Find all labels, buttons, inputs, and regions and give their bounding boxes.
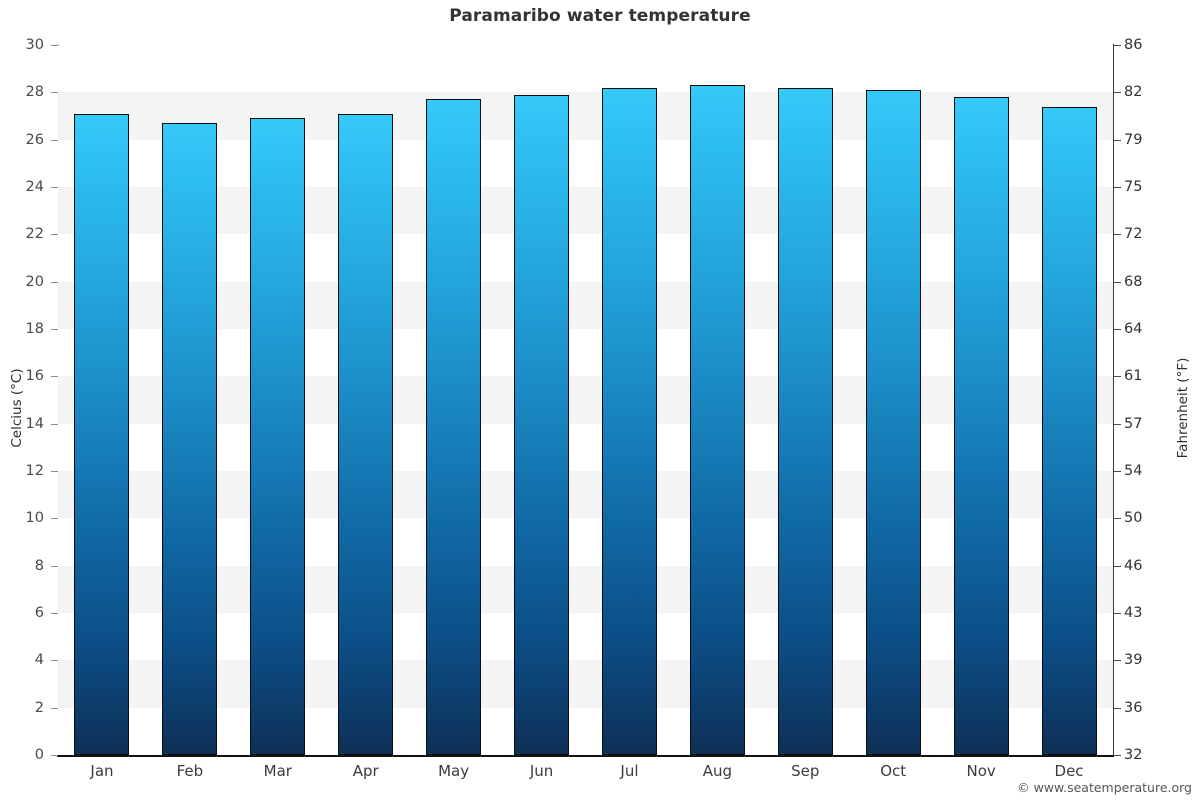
x-tick-jan: Jan: [57, 762, 147, 780]
y-axis-right-label-host: Fahrenheit (°F): [1168, 0, 1198, 800]
bar-aug[interactable]: [690, 85, 745, 755]
bar-sep[interactable]: [778, 88, 833, 755]
x-tick-oct: Oct: [848, 762, 938, 780]
y-tick-left: 22: [0, 226, 44, 242]
y-tick-right: 72: [1124, 226, 1168, 242]
tick-mark-right: [1114, 613, 1121, 614]
y-tick-right: 36: [1124, 700, 1168, 716]
y-tick-left: 12: [0, 463, 44, 479]
y-tick-left: 24: [0, 179, 44, 195]
bar-jun[interactable]: [514, 95, 569, 755]
tick-mark-left: [51, 234, 58, 235]
bar-feb[interactable]: [162, 123, 217, 755]
tick-mark-right: [1114, 376, 1121, 377]
credit-text: © www.seatemperature.org: [1017, 780, 1192, 795]
x-tick-dec: Dec: [1024, 762, 1114, 780]
tick-mark-left: [51, 471, 58, 472]
y-tick-right: 43: [1124, 605, 1168, 621]
tick-mark-right: [1114, 187, 1121, 188]
tick-mark-right: [1114, 566, 1121, 567]
tick-mark-left: [51, 424, 58, 425]
bar-jul[interactable]: [602, 88, 657, 755]
y-tick-right: 86: [1124, 37, 1168, 53]
y-tick-left: 0: [0, 747, 44, 763]
plot-area: [58, 45, 1113, 755]
tick-mark-left: [51, 187, 58, 188]
tick-mark-left: [51, 613, 58, 614]
x-tick-jul: Jul: [584, 762, 674, 780]
y-tick-right: 39: [1124, 652, 1168, 668]
tick-mark-left: [51, 45, 58, 46]
x-tick-sep: Sep: [760, 762, 850, 780]
tick-mark-left: [51, 755, 58, 756]
y-tick-right: 82: [1124, 84, 1168, 100]
y-axis-right-label: Fahrenheit (°F): [1175, 328, 1191, 488]
tick-mark-right: [1114, 234, 1121, 235]
tick-mark-left: [51, 660, 58, 661]
y-tick-left: 30: [0, 37, 44, 53]
tick-mark-left: [51, 708, 58, 709]
bar-jan[interactable]: [74, 114, 129, 755]
y-tick-right: 50: [1124, 510, 1168, 526]
water-temperature-chart: Paramaribo water temperature Celcius (°C…: [0, 0, 1200, 800]
tick-mark-left: [51, 282, 58, 283]
tick-mark-left: [51, 376, 58, 377]
tick-mark-right: [1114, 92, 1121, 93]
y-tick-left: 4: [0, 652, 44, 668]
tick-mark-right: [1114, 660, 1121, 661]
x-tick-mar: Mar: [233, 762, 323, 780]
x-tick-feb: Feb: [145, 762, 235, 780]
y-tick-right: 61: [1124, 368, 1168, 384]
y-tick-left: 20: [0, 274, 44, 290]
y-tick-right: 75: [1124, 179, 1168, 195]
y-tick-left: 16: [0, 368, 44, 384]
x-axis-line: [57, 755, 1114, 757]
bar-dec[interactable]: [1042, 107, 1097, 755]
y-tick-left: 28: [0, 84, 44, 100]
tick-mark-right: [1114, 708, 1121, 709]
x-tick-apr: Apr: [321, 762, 411, 780]
y-tick-left: 2: [0, 700, 44, 716]
bar-nov[interactable]: [954, 97, 1009, 755]
tick-mark-right: [1114, 329, 1121, 330]
tick-mark-right: [1114, 140, 1121, 141]
y-axis-right-line: [1113, 44, 1114, 756]
tick-mark-right: [1114, 282, 1121, 283]
tick-mark-right: [1114, 518, 1121, 519]
y-tick-left: 10: [0, 510, 44, 526]
tick-mark-left: [51, 140, 58, 141]
y-tick-right: 79: [1124, 132, 1168, 148]
y-tick-right: 46: [1124, 558, 1168, 574]
tick-mark-right: [1114, 424, 1121, 425]
x-tick-jun: Jun: [497, 762, 587, 780]
y-tick-left: 6: [0, 605, 44, 621]
y-tick-left: 18: [0, 321, 44, 337]
tick-mark-right: [1114, 471, 1121, 472]
x-tick-aug: Aug: [672, 762, 762, 780]
tick-mark-right: [1114, 45, 1121, 46]
bar-may[interactable]: [426, 99, 481, 755]
tick-mark-left: [51, 566, 58, 567]
y-tick-right: 32: [1124, 747, 1168, 763]
y-tick-right: 54: [1124, 463, 1168, 479]
y-tick-right: 68: [1124, 274, 1168, 290]
y-tick-left: 14: [0, 416, 44, 432]
page-title: Paramaribo water temperature: [0, 6, 1200, 26]
tick-mark-left: [51, 329, 58, 330]
x-tick-nov: Nov: [936, 762, 1026, 780]
x-tick-may: May: [409, 762, 499, 780]
bar-oct[interactable]: [866, 90, 921, 755]
tick-mark-left: [51, 518, 58, 519]
y-tick-left: 26: [0, 132, 44, 148]
bar-mar[interactable]: [250, 118, 305, 755]
tick-mark-right: [1114, 755, 1121, 756]
y-axis-left-label-host: Celcius (°C): [2, 0, 32, 800]
tick-mark-left: [51, 92, 58, 93]
y-tick-right: 57: [1124, 416, 1168, 432]
bar-apr[interactable]: [338, 114, 393, 755]
y-tick-right: 64: [1124, 321, 1168, 337]
y-tick-left: 8: [0, 558, 44, 574]
